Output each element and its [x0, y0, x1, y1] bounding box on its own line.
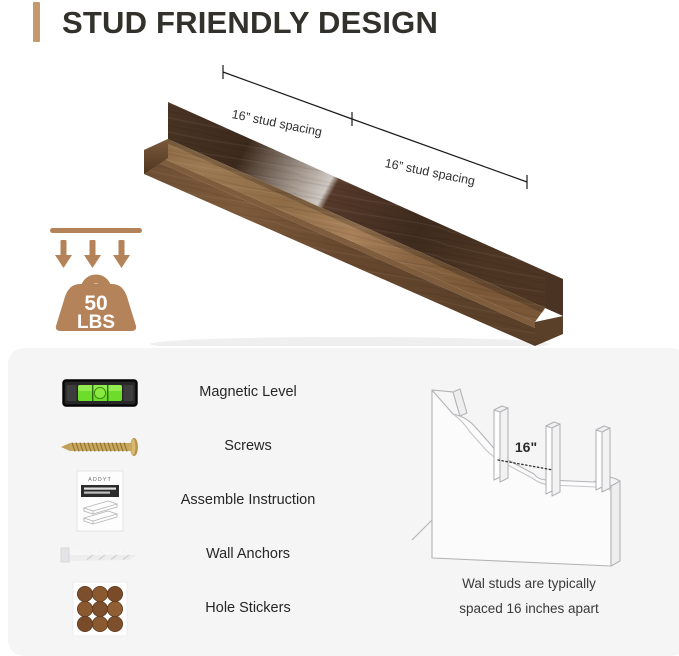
- accessory-label: Screws: [150, 420, 346, 474]
- list-item: ADDYT Assemble Instruction: [0, 474, 360, 528]
- accessory-label: Wall Anchors: [150, 528, 346, 582]
- accessory-label: Magnetic Level: [150, 366, 346, 420]
- list-item: Screws: [0, 420, 360, 474]
- accessory-label: Assemble Instruction: [150, 474, 346, 528]
- accessories-list: Magnetic Level: [0, 366, 360, 636]
- caption-line-1: Wal studs are typically: [404, 572, 654, 597]
- title-accent-bar: [33, 2, 40, 42]
- caption-line-2: spaced 16 inches apart: [404, 597, 654, 622]
- page-title: STUD FRIENDLY DESIGN: [33, 0, 438, 44]
- wall-stud-diagram: 16": [398, 368, 658, 568]
- infographic-root: STUD FRIENDLY DESIGN: [0, 0, 679, 656]
- magnetic-level-icon: [52, 366, 148, 420]
- svg-text:ADDYT: ADDYT: [88, 477, 112, 483]
- screw-icon: [52, 420, 148, 474]
- page-title-text: STUD FRIENDLY DESIGN: [62, 7, 438, 38]
- ceiling-bar: [50, 228, 142, 233]
- down-arrows: [55, 240, 130, 268]
- shelf-right-end: [535, 316, 563, 346]
- stud-spacing-measure-label: 16": [515, 439, 537, 455]
- wall-anchor-icon: [52, 528, 148, 582]
- hole-sticker-icon: [52, 582, 148, 636]
- wall-diagram-caption: Wal studs are typically spaced 16 inches…: [404, 572, 654, 622]
- instruction-manual-icon: ADDYT: [52, 474, 148, 528]
- shelf-right-rail-end: [545, 271, 563, 316]
- accessory-label: Hole Stickers: [150, 582, 346, 636]
- drywall-face: [432, 390, 611, 566]
- drywall-edge: [611, 481, 620, 566]
- list-item: Hole Stickers: [0, 582, 360, 636]
- list-item: Magnetic Level: [0, 366, 360, 420]
- weight-unit: LBS: [77, 312, 115, 333]
- wall-cutaway-graphic: 16": [398, 368, 658, 568]
- list-item: Wall Anchors: [0, 528, 360, 582]
- weight-capacity-badge: 50 LBS: [44, 224, 148, 334]
- shelf-front-lip-top: [144, 150, 535, 328]
- weight-icon: 50 LBS: [44, 224, 148, 334]
